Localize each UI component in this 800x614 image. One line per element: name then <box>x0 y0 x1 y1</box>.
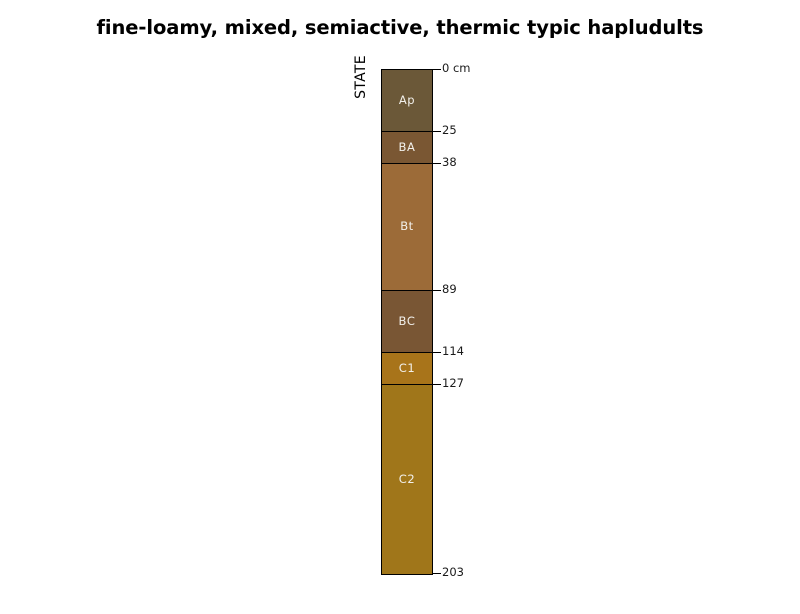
soil-horizon-c1: C1 <box>382 353 432 385</box>
depth-tick <box>433 573 441 574</box>
soil-horizon-bt: Bt <box>382 164 432 291</box>
soil-profile-column: ApBABtBCC1C2 <box>381 69 433 575</box>
depth-tick-label: 25 <box>442 125 457 137</box>
depth-tick-label: 89 <box>442 284 457 296</box>
depth-tick-label: 0 cm <box>442 63 471 75</box>
depth-tick <box>433 69 441 70</box>
depth-tick <box>433 290 441 291</box>
soil-horizon-ap: Ap <box>382 70 432 132</box>
depth-tick-label: 114 <box>442 346 464 358</box>
depth-tick <box>433 384 441 385</box>
depth-tick-label: 38 <box>442 157 457 169</box>
horizon-label: BA <box>399 142 416 154</box>
horizon-label: C1 <box>399 363 416 375</box>
page-title: fine-loamy, mixed, semiactive, thermic t… <box>0 16 800 39</box>
depth-tick-label: 127 <box>442 378 464 390</box>
horizon-label: BC <box>399 316 416 328</box>
profile-group-label-text: STATE <box>353 55 369 99</box>
depth-tick <box>433 131 441 132</box>
horizon-label: Bt <box>400 221 414 233</box>
depth-tick <box>433 163 441 164</box>
profile-group-label: STATE <box>353 69 369 139</box>
soil-horizon-ba: BA <box>382 132 432 164</box>
depth-tick-label: 203 <box>442 567 464 579</box>
horizon-label: C2 <box>399 474 416 486</box>
soil-profile-figure: fine-loamy, mixed, semiactive, thermic t… <box>0 0 800 614</box>
horizon-label: Ap <box>399 95 415 107</box>
depth-tick <box>433 352 441 353</box>
soil-horizon-bc: BC <box>382 291 432 353</box>
soil-horizon-c2: C2 <box>382 385 432 574</box>
